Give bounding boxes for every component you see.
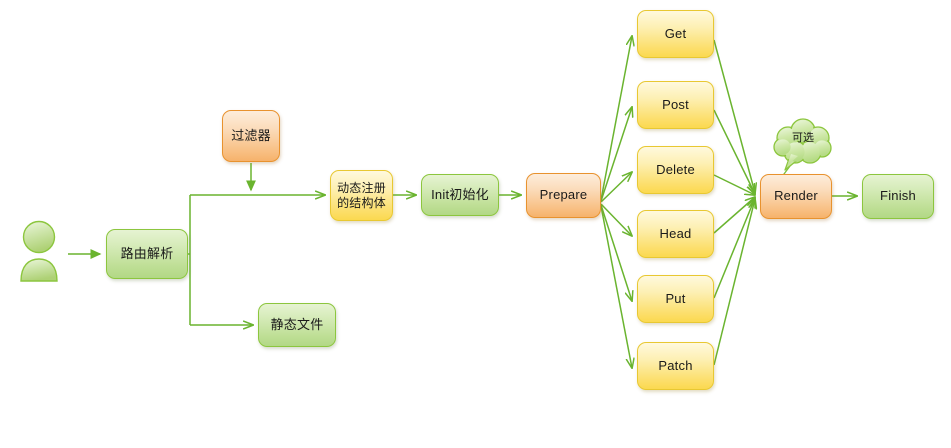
node-label: Delete bbox=[656, 162, 695, 178]
node-prepare[interactable]: Prepare bbox=[526, 173, 601, 218]
node-init[interactable]: Init初始化 bbox=[421, 174, 499, 216]
edge-prepare-get bbox=[601, 36, 632, 200]
edge-post-render bbox=[714, 110, 755, 194]
node-label-line2: 的结构体 bbox=[337, 196, 386, 211]
node-label: Patch bbox=[658, 358, 692, 374]
node-label-stack: 动态注册 的结构体 bbox=[337, 181, 386, 211]
node-filter[interactable]: 过滤器 bbox=[222, 110, 280, 162]
node-label: Finish bbox=[880, 188, 916, 204]
edge-delete-render bbox=[714, 175, 755, 195]
node-method-get[interactable]: Get bbox=[637, 10, 714, 58]
node-render[interactable]: Render bbox=[760, 174, 832, 219]
node-method-patch[interactable]: Patch bbox=[637, 342, 714, 390]
edge-head-render bbox=[714, 197, 755, 233]
node-dynamic-register-struct[interactable]: 动态注册 的结构体 bbox=[330, 170, 393, 221]
node-label: 路由解析 bbox=[121, 246, 174, 262]
node-label-line1: 动态注册 bbox=[337, 181, 386, 196]
node-method-put[interactable]: Put bbox=[637, 275, 714, 323]
node-route-parse[interactable]: 路由解析 bbox=[106, 229, 188, 279]
edge-get-render bbox=[714, 40, 755, 193]
node-method-post[interactable]: Post bbox=[637, 81, 714, 129]
node-label: 过滤器 bbox=[231, 128, 271, 144]
node-label: Head bbox=[660, 226, 692, 242]
node-label: Post bbox=[662, 97, 689, 113]
node-static-file[interactable]: 静态文件 bbox=[258, 303, 336, 347]
node-label: Put bbox=[665, 291, 685, 307]
node-label: 静态文件 bbox=[271, 317, 324, 333]
node-method-delete[interactable]: Delete bbox=[637, 146, 714, 194]
edge-layer bbox=[0, 0, 951, 448]
node-label: Get bbox=[665, 26, 687, 42]
cloud-callout-optional[interactable]: 可选 bbox=[768, 118, 838, 176]
flowchart-canvas: 路由解析 过滤器 静态文件 动态注册 的结构体 Init初始化 Prepare … bbox=[0, 0, 951, 448]
user-actor-figure bbox=[21, 222, 57, 282]
cloud-shape bbox=[768, 118, 838, 176]
node-label: Render bbox=[774, 188, 818, 204]
node-method-head[interactable]: Head bbox=[637, 210, 714, 258]
node-label: Prepare bbox=[540, 187, 588, 203]
node-label: Init初始化 bbox=[431, 187, 489, 203]
node-finish[interactable]: Finish bbox=[862, 174, 934, 219]
